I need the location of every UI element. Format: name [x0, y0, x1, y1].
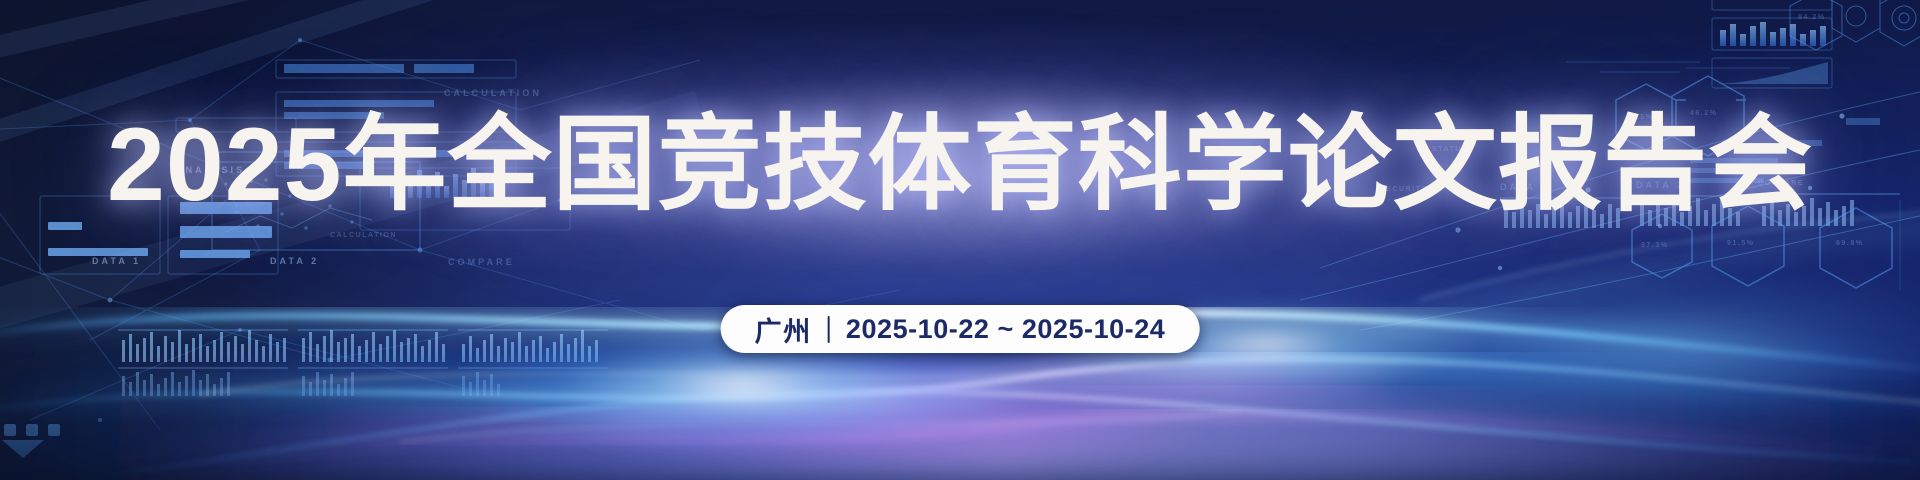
page-title: 2025年全国竞技体育科学论文报告会 — [107, 113, 1813, 217]
event-location-date-badge: 广州 2025-10-22 ~ 2025-10-24 — [721, 305, 1200, 353]
conference-banner: ANALYSIS CALCULATION CALCULATION DATA 1 … — [0, 0, 1920, 480]
event-date-range: 2025-10-22 ~ 2025-10-24 — [846, 314, 1165, 345]
badge-divider — [828, 316, 830, 343]
banner-content: 2025年全国竞技体育科学论文报告会 广州 2025-10-22 ~ 2025-… — [0, 0, 1920, 480]
event-city: 广州 — [755, 310, 812, 349]
